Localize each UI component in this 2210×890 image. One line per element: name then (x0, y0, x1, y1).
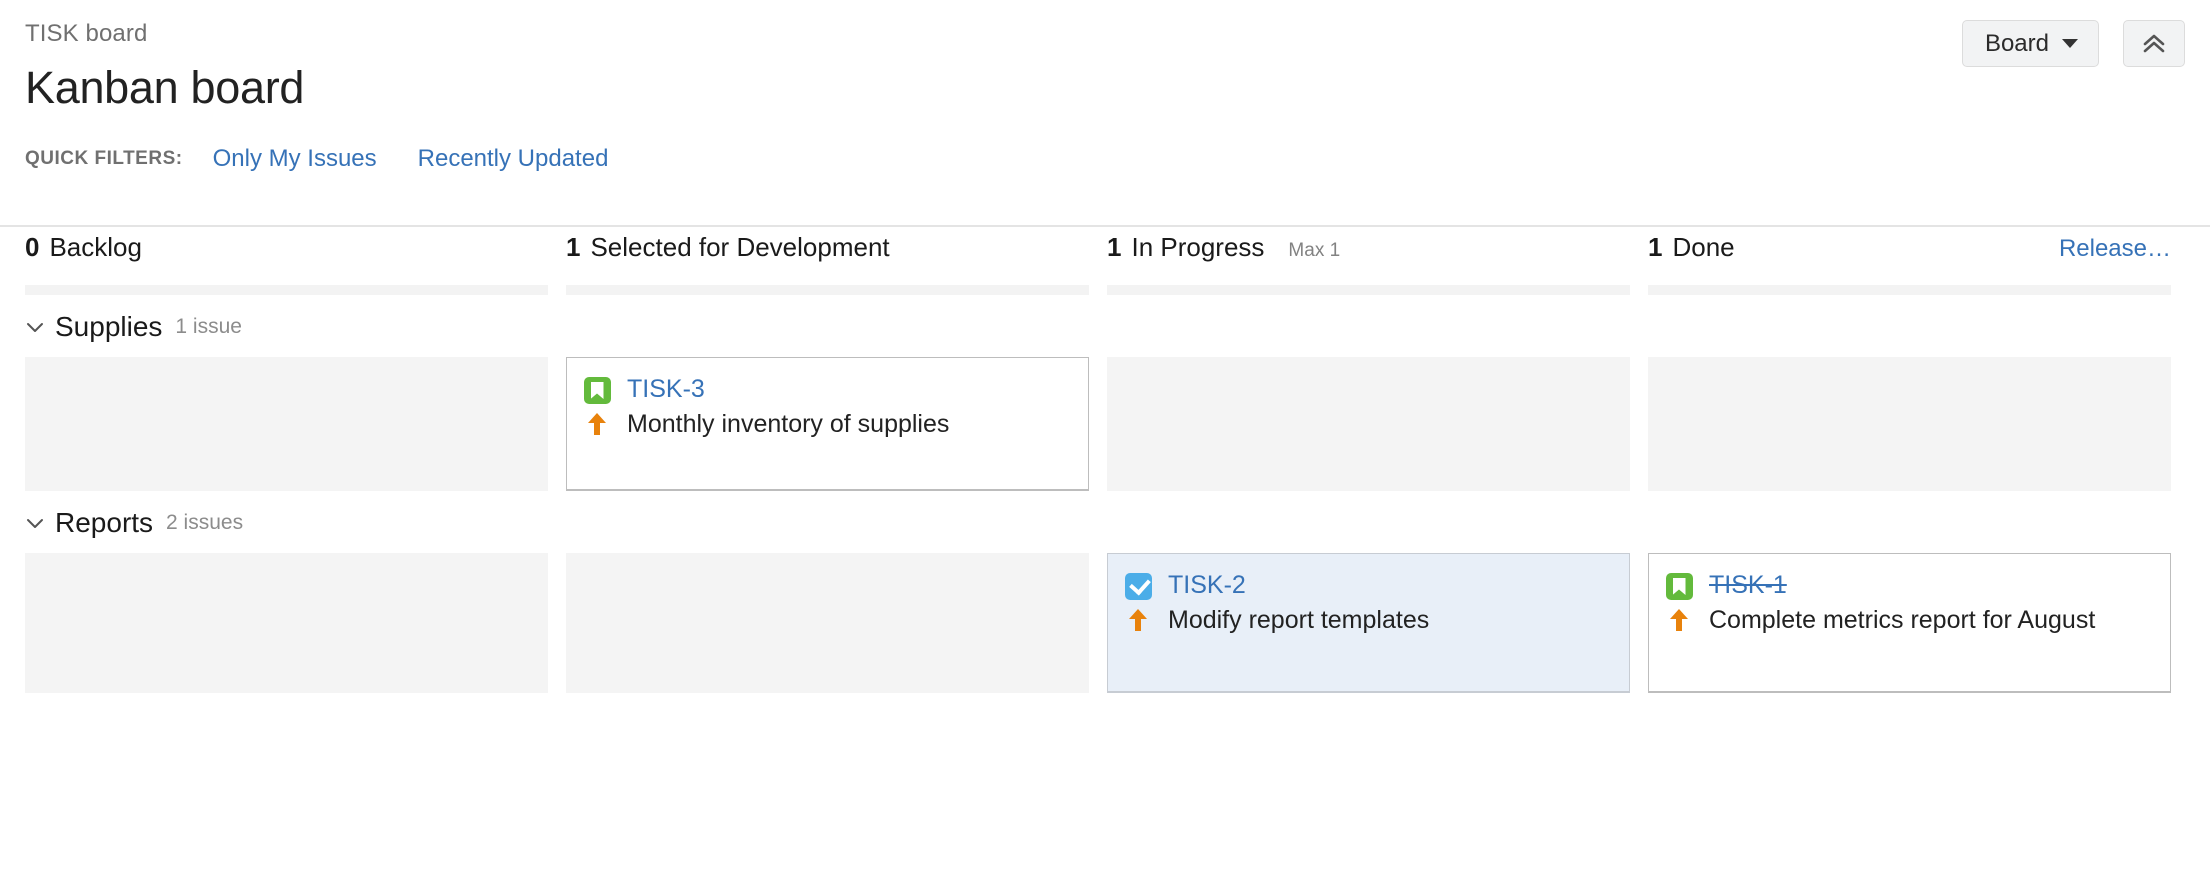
column-headers: 0 Backlog 1 Selected for Development 1 I… (25, 227, 2185, 295)
column-capacity-strip (25, 285, 548, 295)
quick-filters-bar: QUICK FILTERS: Only My Issues Recently U… (25, 144, 2185, 174)
board-header: TISK board Kanban board QUICK FILTERS: O… (0, 0, 2210, 227)
column-name: In Progress (1131, 232, 1264, 263)
column-name: Selected for Development (590, 232, 889, 263)
issue-card-tisk-3[interactable]: TISK-3 Monthly inventory of supplies (566, 357, 1089, 491)
chevron-down-icon (2062, 39, 2078, 48)
priority-major-up-arrow-icon (1124, 601, 1152, 633)
issue-summary: Modify report templates (1168, 601, 1429, 638)
column-header-done: 1 Done Release… (1648, 227, 2171, 295)
column-count: 1 (566, 232, 580, 263)
quick-filter-only-my-issues[interactable]: Only My Issues (213, 145, 377, 173)
chevron-down-icon (25, 516, 47, 530)
breadcrumb: TISK board (25, 20, 2185, 49)
collapse-header-button[interactable] (2123, 20, 2185, 67)
column-capacity-strip (566, 285, 1089, 295)
issue-key-link[interactable]: TISK-1 (1709, 570, 1787, 601)
release-link[interactable]: Release… (2059, 235, 2171, 263)
header-actions: Board (1962, 20, 2185, 67)
column-max-badge: Max 1 (1288, 240, 1340, 262)
cell-reports-in-progress[interactable]: TISK-2 Modify report templates (1107, 553, 1630, 693)
swimlane-title: Supplies (55, 311, 162, 343)
board-dropdown-label: Board (1985, 30, 2049, 58)
issue-card-tisk-1[interactable]: TISK-1 Complete metrics report for Augus… (1648, 553, 2171, 693)
column-count: 1 (1648, 232, 1662, 263)
swimlane-row-supplies: TISK-3 Monthly inventory of supplies (25, 357, 2185, 491)
cell-supplies-selected-for-development[interactable]: TISK-3 Monthly inventory of supplies (566, 357, 1089, 491)
issue-summary: Complete metrics report for August (1709, 601, 2095, 638)
task-icon (1124, 570, 1152, 600)
cell-supplies-backlog[interactable] (25, 357, 548, 491)
swimlane-header-supplies[interactable]: Supplies 1 issue (25, 303, 2185, 351)
column-count: 1 (1107, 232, 1121, 263)
page-title: Kanban board (25, 60, 2185, 116)
column-capacity-strip (1107, 285, 1630, 295)
swimlane-row-reports: TISK-2 Modify report templates (25, 553, 2185, 693)
board-body: 0 Backlog 1 Selected for Development 1 I… (0, 227, 2210, 693)
cell-supplies-in-progress[interactable] (1107, 357, 1630, 491)
cell-reports-backlog[interactable] (25, 553, 548, 693)
swimlane-title: Reports (55, 507, 153, 539)
column-header-in-progress: 1 In Progress Max 1 (1107, 227, 1630, 295)
story-icon (583, 374, 611, 404)
swimlane-header-reports[interactable]: Reports 2 issues (25, 499, 2185, 547)
quick-filter-recently-updated[interactable]: Recently Updated (418, 145, 609, 173)
priority-major-up-arrow-icon (583, 405, 611, 437)
column-header-selected-for-development: 1 Selected for Development (566, 227, 1089, 295)
issue-card-tisk-2[interactable]: TISK-2 Modify report templates (1107, 553, 1630, 693)
column-name: Done (1672, 232, 1734, 263)
board-dropdown-button[interactable]: Board (1962, 20, 2099, 67)
swimlane-issue-count: 1 issue (175, 315, 242, 339)
cell-reports-selected-for-development[interactable] (566, 553, 1089, 693)
column-count: 0 (25, 232, 39, 263)
column-name: Backlog (49, 232, 142, 263)
double-chevron-up-icon (2139, 30, 2169, 58)
issue-key-link[interactable]: TISK-3 (627, 374, 705, 405)
swimlane-issue-count: 2 issues (166, 511, 243, 535)
header-divider (0, 225, 2210, 227)
cell-reports-done[interactable]: TISK-1 Complete metrics report for Augus… (1648, 553, 2171, 693)
story-icon (1665, 570, 1693, 600)
issue-summary: Monthly inventory of supplies (627, 405, 949, 442)
priority-major-up-arrow-icon (1665, 601, 1693, 633)
chevron-down-icon (25, 320, 47, 334)
column-capacity-strip (1648, 285, 2171, 295)
issue-key-link[interactable]: TISK-2 (1168, 570, 1246, 601)
quick-filters-label: QUICK FILTERS: (25, 148, 183, 170)
column-header-backlog: 0 Backlog (25, 227, 548, 295)
cell-supplies-done[interactable] (1648, 357, 2171, 491)
